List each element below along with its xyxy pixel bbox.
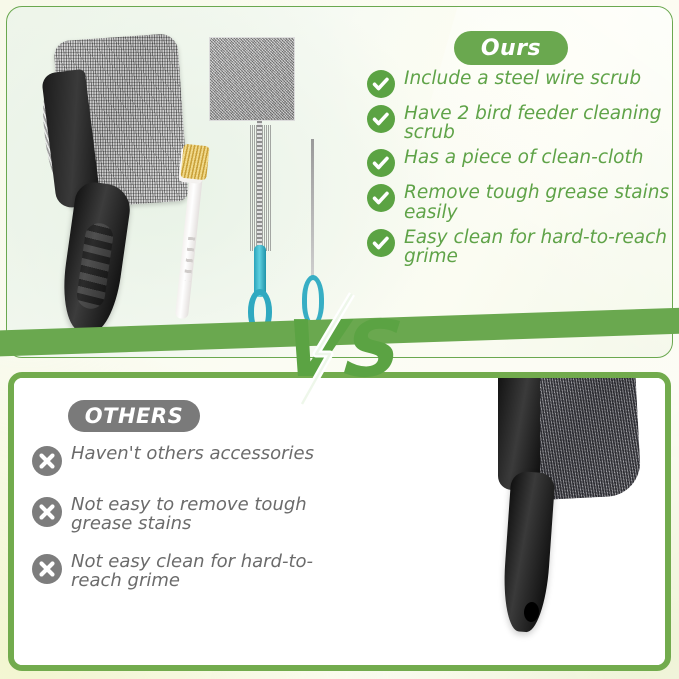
list-item-label: Not easy clean for hard-to-reach grime	[71, 553, 362, 590]
list-item-label: Include a steel wire scrub	[404, 69, 641, 88]
list-item-label: Not easy to remove tough grease stains	[71, 496, 362, 533]
list-item-label: Haven't others accessories	[71, 445, 314, 464]
bottle-brush-image	[243, 121, 277, 333]
check-circle-icon	[367, 70, 395, 98]
others-badge: OTHERS	[68, 400, 200, 432]
list-item: Remove tough grease stains easily	[367, 183, 673, 221]
check-circle-icon	[367, 229, 395, 257]
comparison-infographic: Ours Include a steel wire scrub Have 2 b…	[0, 0, 679, 679]
list-item: Haven't others accessories	[32, 445, 362, 476]
bottle-brush-wire	[257, 121, 262, 249]
vs-lightning-icon: VS	[286, 300, 396, 396]
list-item: Have 2 bird feeder cleaning scrub	[367, 104, 673, 142]
list-item: Easy clean for hard-to-reach grime	[367, 228, 673, 266]
ours-badge-label: Ours	[481, 36, 541, 61]
list-item: Include a steel wire scrub	[367, 69, 673, 98]
others-feature-list: Haven't others accessories Not easy to r…	[32, 445, 362, 611]
list-item-label: Remove tough grease stains easily	[404, 183, 673, 221]
ours-feature-list: Include a steel wire scrub Have 2 bird f…	[367, 69, 673, 272]
list-item: Has a piece of clean-cloth	[367, 148, 673, 177]
pipe-cleaner-wire	[311, 139, 314, 279]
others-product-image	[476, 372, 671, 644]
others-badge-label: OTHERS	[85, 404, 183, 428]
check-circle-icon	[367, 105, 395, 133]
check-circle-icon	[367, 149, 395, 177]
check-circle-icon	[367, 184, 395, 212]
list-item: Not easy to remove tough grease stains	[32, 496, 362, 533]
brass-wire-brush-image	[169, 133, 213, 319]
svg-text:VS: VS	[280, 304, 406, 395]
steel-wool-pad-image	[209, 37, 295, 121]
x-circle-icon	[32, 446, 62, 476]
list-item: Not easy clean for hard-to-reach grime	[32, 553, 362, 590]
ours-badge: Ours	[454, 31, 568, 65]
ours-product-image	[21, 21, 351, 346]
list-item-label: Have 2 bird feeder cleaning scrub	[404, 104, 673, 142]
x-circle-icon	[32, 554, 62, 584]
x-circle-icon	[32, 497, 62, 527]
list-item-label: Has a piece of clean-cloth	[404, 148, 643, 167]
list-item-label: Easy clean for hard-to-reach grime	[404, 228, 673, 266]
brass-bristles	[180, 144, 209, 181]
